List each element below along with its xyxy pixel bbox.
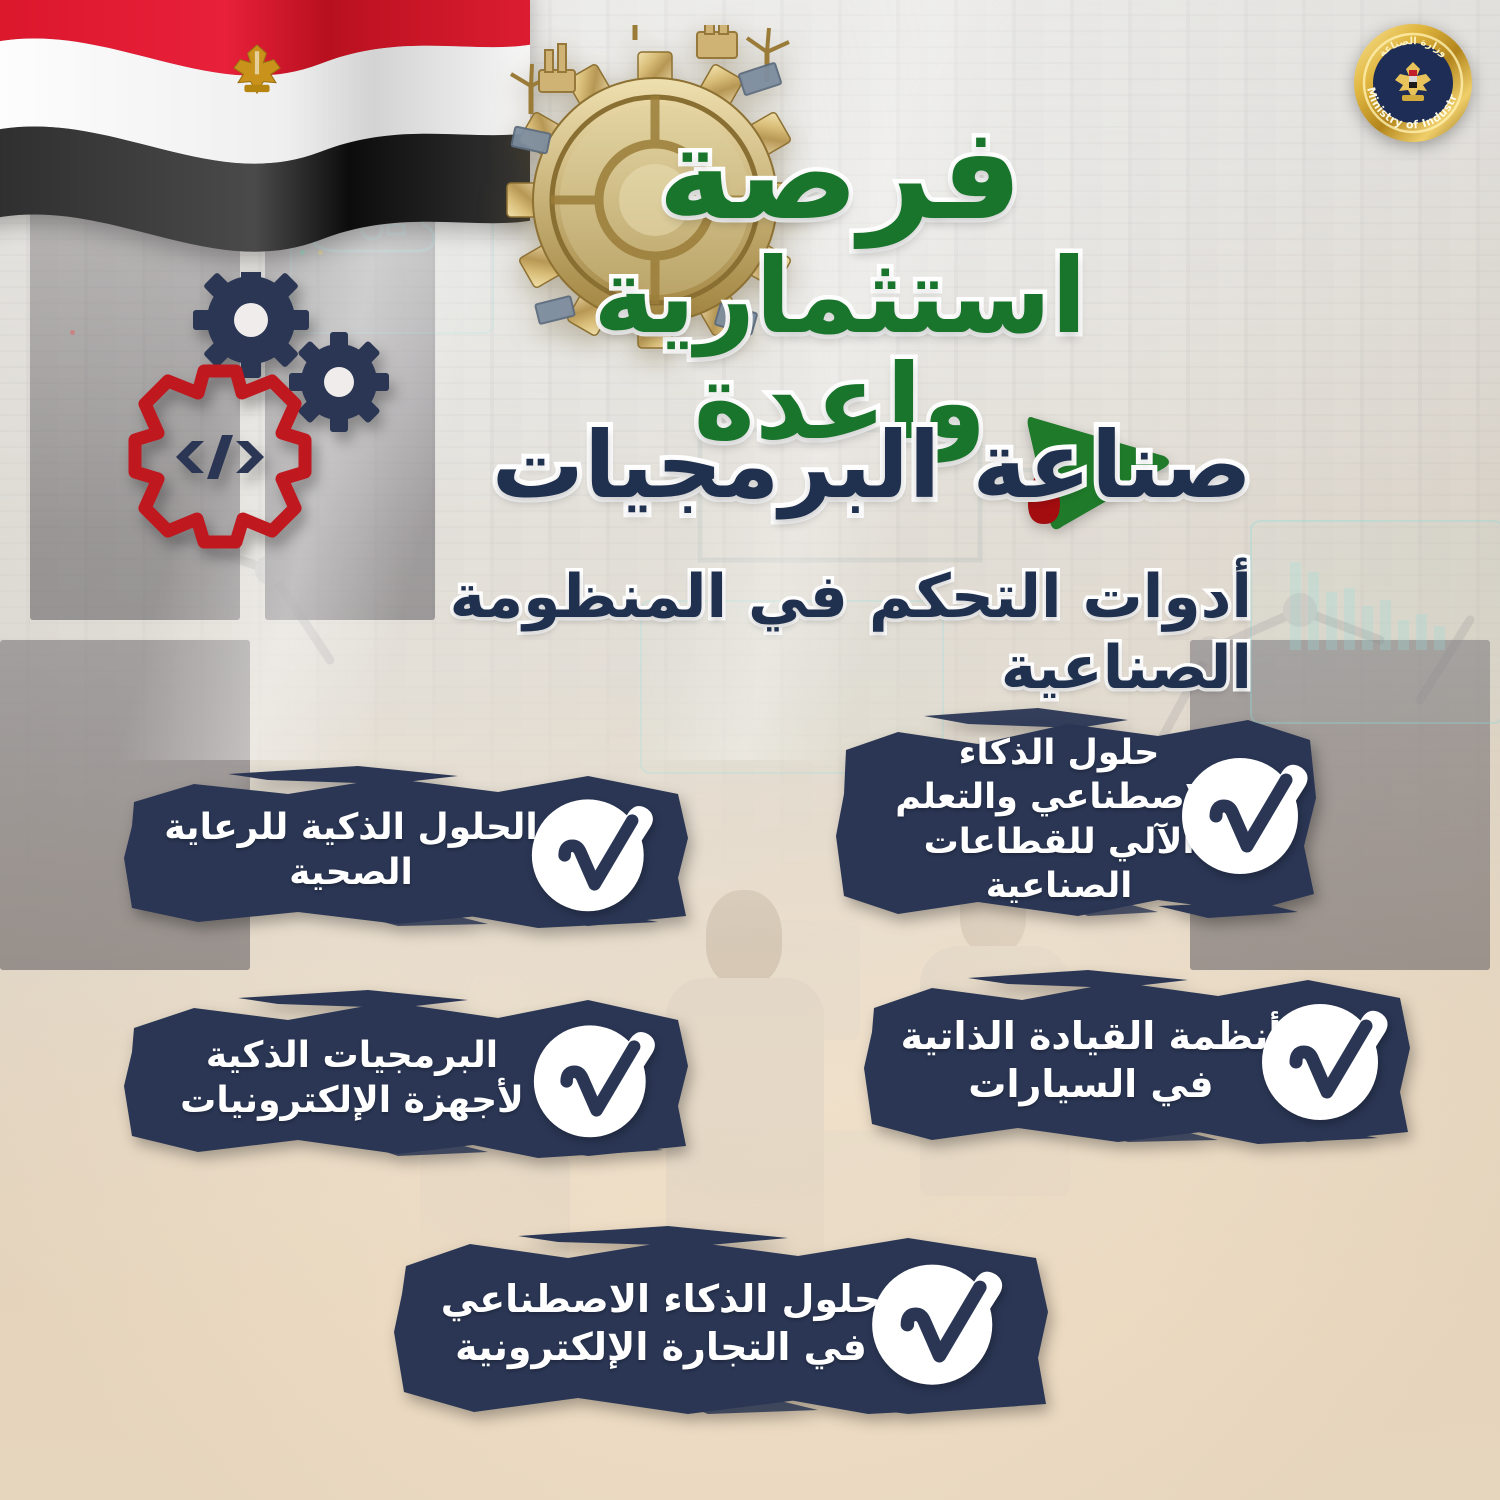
status-led xyxy=(70,330,75,335)
infographic-poster: 28 28 وزارة الصناعة M xyxy=(0,0,1500,1500)
check-circle-icon xyxy=(1258,988,1398,1128)
headline: فرصة استثمارية واعدة xyxy=(520,110,1160,455)
egypt-flag xyxy=(0,0,530,252)
list-item-label: البرمجيات الذكية لأجهزة الإلكترونيات xyxy=(156,1016,548,1140)
check-circle-icon xyxy=(530,1010,665,1145)
page-title: صناعة البرمجيات xyxy=(352,418,1252,515)
headline-line-1: فرصة xyxy=(520,110,1160,241)
check-circle-icon xyxy=(528,784,663,919)
list-item-label: حلول الذكاء الاصطناعي في التجارة الإلكتر… xyxy=(430,1254,892,1394)
gear-icon xyxy=(289,332,389,432)
list-item[interactable]: حلول الذكاء الاصطناعي في التجارة الإلكتر… xyxy=(388,1226,1058,1426)
list-item-label: أنظمة القيادة الذاتية في السيارات xyxy=(900,992,1282,1130)
ministry-of-industry-logo: وزارة الصناعة Ministry of Industry xyxy=(1352,22,1474,144)
hud-panel xyxy=(1250,520,1500,724)
list-item[interactable]: أنظمة القيادة الذاتية في السيارات xyxy=(858,966,1418,1154)
code-brackets-icon xyxy=(176,435,264,479)
list-item-label: الحلول الذكية للرعاية الصحية xyxy=(158,790,544,910)
list-item[interactable]: الحلول الذكية للرعاية الصحية xyxy=(118,766,698,934)
gear-icon xyxy=(193,272,309,378)
list-item[interactable]: البرمجيات الذكية لأجهزة الإلكترونيات xyxy=(118,990,698,1165)
page-subtitle: أدوات التحكم في المنظومة الصناعية xyxy=(352,562,1252,704)
check-circle-icon xyxy=(1178,742,1318,882)
check-circle-icon xyxy=(868,1248,1013,1393)
code-gear-outline-icon xyxy=(135,371,305,542)
list-item[interactable]: حلول الذكاء الاصطناعي والتعلم الآلي للقط… xyxy=(828,706,1328,931)
hud-bar-chart xyxy=(1290,560,1445,650)
